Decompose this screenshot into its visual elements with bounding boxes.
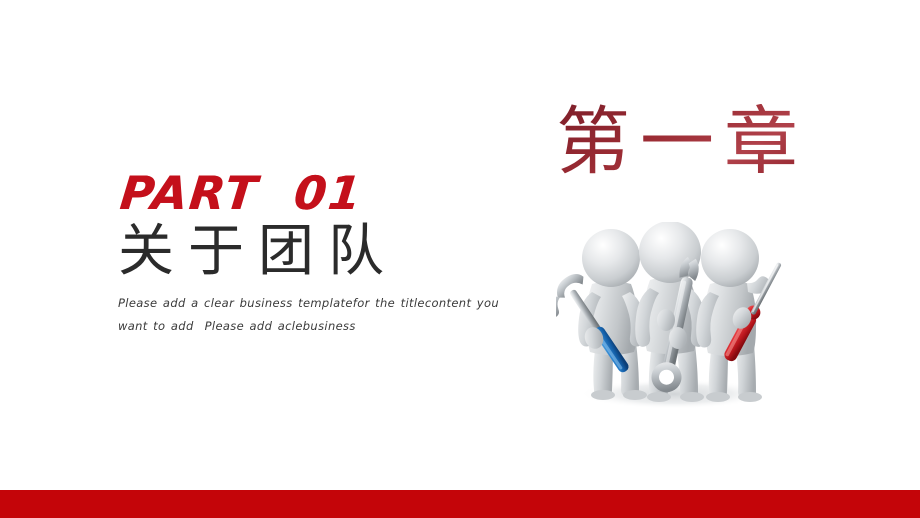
figure-head bbox=[701, 229, 759, 287]
figure-right-with-screwdriver bbox=[696, 229, 786, 402]
bottom-accent-bar bbox=[0, 490, 920, 518]
chapter-title: 第一章 bbox=[556, 104, 808, 182]
figure-head bbox=[582, 229, 640, 287]
slide-canvas: PART 01 关于团队 Please add a clear business… bbox=[0, 0, 920, 518]
illustration-three-figures-with-tools bbox=[556, 222, 792, 417]
section-heading: 关于团队 bbox=[118, 222, 538, 282]
body-paragraph: Please add a clear business templatefor … bbox=[118, 292, 526, 337]
figure-center-with-wrench bbox=[635, 222, 706, 402]
left-text-block: PART 01 关于团队 Please add a clear business… bbox=[118, 170, 538, 337]
figure-left-with-hammer bbox=[556, 229, 647, 400]
part-label: PART 01 bbox=[118, 170, 543, 216]
